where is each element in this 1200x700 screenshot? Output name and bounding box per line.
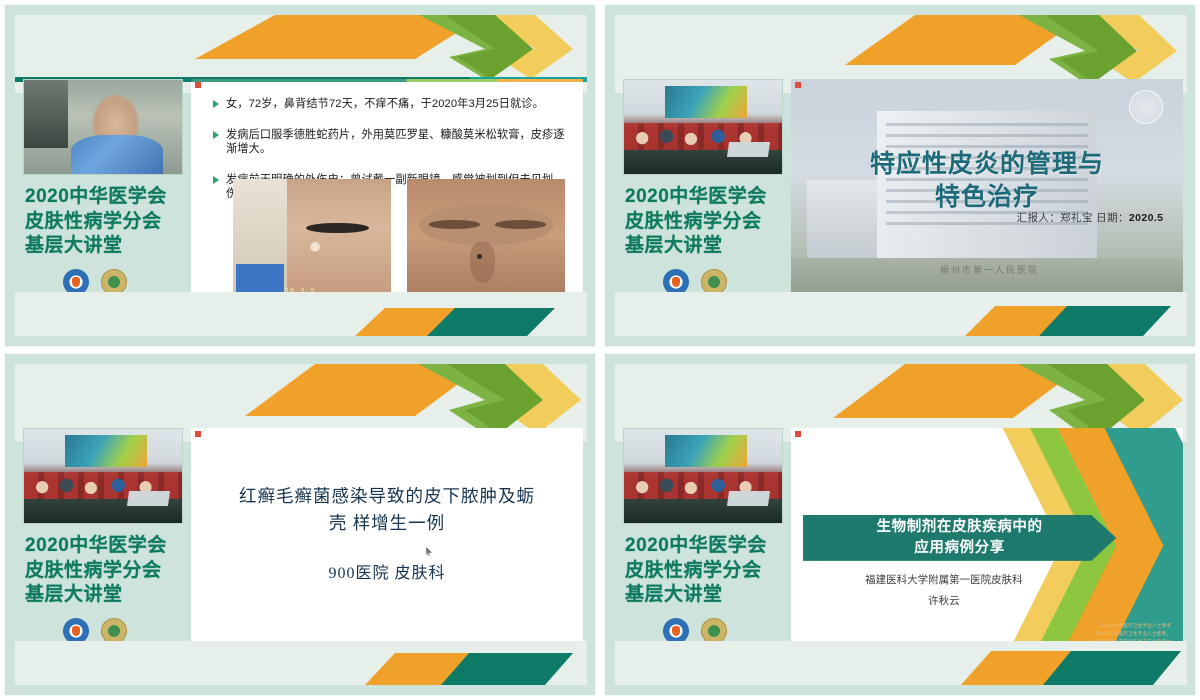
cma-logo-icon: [663, 269, 689, 295]
slide-title-line-1: 特应性皮炎的管理与: [791, 148, 1183, 181]
rail-title-line-2: 皮肤性病学分会: [25, 559, 181, 584]
panel-4-rail: 2020中华医学会 皮肤性病学分会 基层大讲堂: [615, 428, 787, 685]
bullet-triangle-icon: [213, 176, 219, 184]
dermatology-branch-logo-icon: [701, 269, 727, 295]
slide-marker-dot: [795, 82, 801, 88]
control-button[interactable]: ⬚: [257, 666, 270, 679]
panel-1-inner: 2020中华医学会 皮肤性病学分会 基层大讲堂 女，72岁，鼻背结节72天，不痒…: [15, 15, 587, 336]
dermatology-branch-logo-icon: [101, 269, 127, 295]
cma-logo-icon: [663, 618, 689, 644]
player-controls[interactable]: ⟲ ⏸ ✎ ⬚ ⌕ ⋯: [197, 317, 310, 330]
stage-banner: [665, 435, 747, 467]
rail-logos: [663, 618, 781, 644]
slide-top-bar: [191, 79, 583, 82]
dermatology-branch-logo-icon: [701, 618, 727, 644]
slide-title: 特应性皮炎的管理与 特色治疗: [791, 148, 1183, 214]
control-button[interactable]: ⌕: [277, 666, 290, 679]
rail-title-line-2: 皮肤性病学分会: [625, 559, 781, 584]
affiliation-text: 福建医科大学附属第一医院皮肤科: [791, 570, 1097, 591]
rail-title: 2020中华医学会 皮肤性病学分会 基层大讲堂: [625, 534, 781, 608]
panel-2[interactable]: 2020中华医学会 皮肤性病学分会 基层大讲堂 福州市第一人民医院: [604, 4, 1196, 347]
control-button[interactable]: ⟲: [197, 666, 210, 679]
clinical-photo-right: [407, 179, 565, 300]
slide-title-line-2: 样增生一例: [353, 513, 446, 533]
disclaimer-line-3: 与机构用途及内容科技状态于计参单位: [1090, 638, 1172, 646]
rail-title-line-3: 基层大讲堂: [25, 583, 181, 608]
audience-webcam[interactable]: [623, 79, 783, 175]
rail-title: 2020中华医学会 皮肤性病学分会 基层大讲堂: [25, 534, 181, 608]
eyelid-left: [429, 220, 480, 228]
slide-subtitle: 福建医科大学附属第一医院皮肤科 许秋云: [791, 570, 1097, 612]
disclaimer-fine-print: 该信息仅供医疗卫生专业人士参考 该材料仅供医疗卫生专业人士使用， 与机构用途及内…: [1090, 622, 1172, 645]
panel-2-slide[interactable]: 福州市第一人民医院 特应性皮炎的管理与 特色治疗 汇报人：郑礼宝 日期：2020…: [791, 79, 1183, 308]
rail-title-line-3: 基层大讲堂: [625, 583, 781, 608]
rail-title-line-1: 2020中华医学会: [25, 534, 181, 559]
panel-3[interactable]: 2020中华医学会 皮肤性病学分会 基层大讲堂 红癣毛癣菌感染导致的皮下脓肿及蛎…: [4, 353, 596, 696]
byline-prefix: 汇报人：郑礼宝 日期：: [1017, 212, 1129, 224]
panel-2-inner: 2020中华医学会 皮肤性病学分会 基层大讲堂 福州市第一人民医院: [615, 15, 1187, 336]
rail-title: 2020中华医学会 皮肤性病学分会 基层大讲堂: [25, 185, 181, 259]
control-button[interactable]: ⏸: [217, 317, 230, 330]
rail-title-line-3: 基层大讲堂: [25, 234, 181, 259]
stage-banner: [665, 86, 747, 118]
rail-logos: [63, 269, 181, 295]
audience-webcam[interactable]: [23, 428, 183, 524]
rail-logos: [663, 269, 781, 295]
audience-webcam[interactable]: [623, 428, 783, 524]
control-button[interactable]: ⌕: [277, 317, 290, 330]
rail-title-line-2: 皮肤性病学分会: [625, 210, 781, 235]
laptop: [127, 491, 170, 506]
panel-4-inner: 2020中华医学会 皮肤性病学分会 基层大讲堂: [615, 364, 1187, 685]
panel-1[interactable]: 2020中华医学会 皮肤性病学分会 基层大讲堂 女，72岁，鼻背结节72天，不痒…: [4, 4, 596, 347]
rail-title-line-2: 皮肤性病学分会: [25, 210, 181, 235]
cma-logo-icon: [63, 269, 89, 295]
clinical-photo-row: 2020 3 5: [233, 179, 565, 300]
panel-2-rail: 2020中华医学会 皮肤性病学分会 基层大讲堂: [615, 79, 787, 336]
rail-title-line-3: 基层大讲堂: [625, 234, 781, 259]
mouse-cursor-icon: [426, 547, 432, 556]
photo-date-stamp: 2020 3 5: [274, 287, 316, 295]
rail-title-line-1: 2020中华医学会: [625, 534, 781, 559]
rail-logos: [63, 618, 181, 644]
slide-subtitle: 900医院 皮肤科: [191, 559, 583, 583]
byline-date: 2020.5: [1129, 212, 1164, 224]
control-button[interactable]: ⏸: [217, 666, 230, 679]
eye-region: [306, 223, 369, 234]
presenter-name: 许秋云: [791, 591, 1097, 612]
laptop: [727, 491, 770, 506]
bullet-item: 发病后口服季德胜蛇药片，外用莫匹罗星、糠酸莫米松软膏，皮疹逐渐增大。: [213, 128, 571, 156]
rail-title: 2020中华医学会 皮肤性病学分会 基层大讲堂: [625, 185, 781, 259]
control-button[interactable]: ⬚: [257, 317, 270, 330]
slide-marker-dot: [195, 431, 201, 437]
bullet-text: 发病后口服季德胜蛇药片，外用莫匹罗星、糠酸莫米松软膏，皮疹逐渐增大。: [226, 128, 571, 156]
slide-title-line-2: 应用病例分享: [877, 538, 1043, 559]
presenter-byline: 汇报人：郑礼宝 日期：2020.5: [1017, 210, 1164, 225]
slide-title: 生物制剂在皮肤疾病中的 应用病例分享: [877, 517, 1043, 558]
disclaimer-line-1: 该信息仅供医疗卫生专业人士参考: [1090, 622, 1172, 630]
bullet-item: 女，72岁，鼻背结节72天，不痒不痛，于2020年3月25日就诊。: [213, 97, 571, 111]
bullet-triangle-icon: [213, 131, 219, 139]
panel-1-rail: 2020中华医学会 皮肤性病学分会 基层大讲堂: [15, 79, 187, 336]
nose-region: [470, 242, 495, 283]
rail-title-line-1: 2020中华医学会: [25, 185, 181, 210]
nodule-lesion: [477, 254, 482, 259]
panel-3-rail: 2020中华医学会 皮肤性病学分会 基层大讲堂: [15, 428, 187, 685]
player-controls[interactable]: ⟲ ⏸ ✎ ⬚ ⌕ ⋯: [197, 666, 310, 679]
control-button[interactable]: ✎: [237, 666, 250, 679]
speaker-webcam[interactable]: [23, 79, 183, 175]
eyelid-right: [495, 220, 546, 228]
panel-1-slide[interactable]: 女，72岁，鼻背结节72天，不痒不痛，于2020年3月25日就诊。 发病后口服季…: [191, 79, 583, 308]
control-button[interactable]: ⋯: [297, 666, 310, 679]
rail-title-line-1: 2020中华医学会: [625, 185, 781, 210]
dermatology-branch-logo-icon: [101, 618, 127, 644]
slide-title: 红癣毛癣菌感染导致的皮下脓肿及蛎壳 样增生一例: [230, 483, 544, 537]
bullet-triangle-icon: [213, 100, 219, 108]
cma-logo-icon: [63, 618, 89, 644]
bullet-text: 女，72岁，鼻背结节72天，不痒不痛，于2020年3月25日就诊。: [226, 97, 544, 111]
panel-3-inner: 2020中华医学会 皮肤性病学分会 基层大讲堂 红癣毛癣菌感染导致的皮下脓肿及蛎…: [15, 364, 587, 685]
laptop: [727, 142, 770, 157]
clinical-photo-left: 2020 3 5: [233, 179, 391, 300]
stage-banner: [65, 435, 147, 467]
disclaimer-line-2: 该材料仅供医疗卫生专业人士使用，: [1090, 630, 1172, 638]
slide-title-line-1: 生物制剂在皮肤疾病中的: [877, 517, 1043, 538]
slide-grid: 2020中华医学会 皮肤性病学分会 基层大讲堂 女，72岁，鼻背结节72天，不痒…: [0, 0, 1200, 700]
photo-watermark: 福州市第一人民医院: [940, 263, 1039, 276]
slide-marker-dot: [195, 82, 201, 88]
panel-4[interactable]: 2020中华医学会 皮肤性病学分会 基层大讲堂: [604, 353, 1196, 696]
slide-title-band: 生物制剂在皮肤疾病中的 应用病例分享: [803, 515, 1117, 561]
panel-4-slide[interactable]: 生物制剂在皮肤疾病中的 应用病例分享 福建医科大学附属第一医院皮肤科 许秋云 该…: [791, 428, 1183, 657]
panel-3-slide[interactable]: 红癣毛癣菌感染导致的皮下脓肿及蛎壳 样增生一例 900医院 皮肤科: [191, 428, 583, 657]
control-button[interactable]: ⟲: [197, 317, 210, 330]
control-button[interactable]: ✎: [237, 317, 250, 330]
control-button[interactable]: ⋯: [297, 317, 310, 330]
